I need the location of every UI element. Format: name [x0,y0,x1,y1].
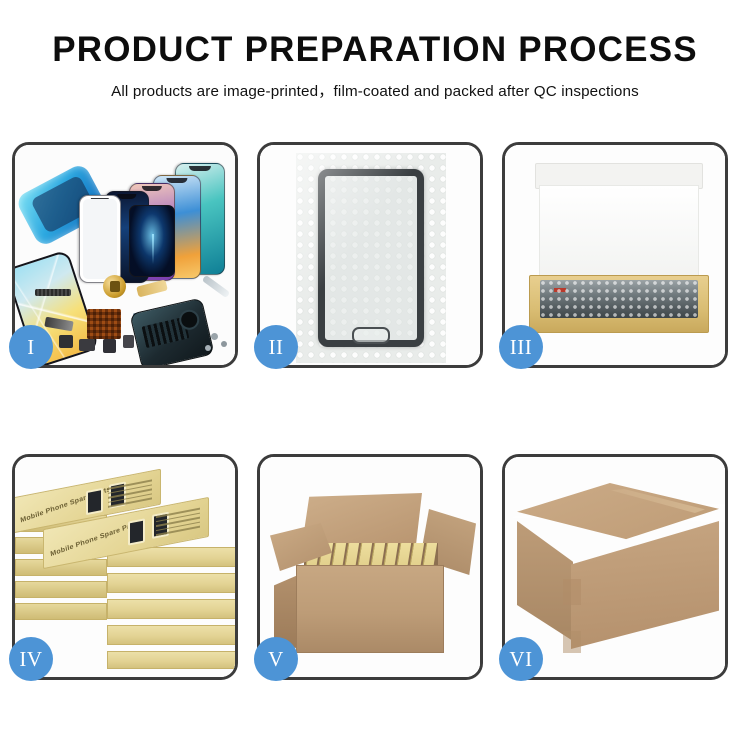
flex-cable-dark [44,317,73,332]
red-label-sticker [554,288,566,292]
carton-seam-1 [563,579,581,605]
process-step-panel-4[interactable]: Mobile Phone Spare Parts [12,454,238,680]
chip-part-4 [123,335,134,348]
box-stack-group: Mobile Phone Spare Parts [15,471,235,671]
carton-right-face [571,521,719,649]
step-badge-6: VI [499,637,543,681]
coil-part-icon [103,275,126,298]
screw-part-3 [205,345,211,351]
tweezers-icon [202,275,230,298]
process-step-panel-5[interactable]: V [257,454,483,680]
panel-photo-5 [260,457,480,677]
flex-cable-gold [136,280,168,298]
phone-white-front [79,195,121,283]
open-kraft-box [529,163,709,339]
process-step-panel-6[interactable]: VI [502,454,728,680]
sealed-carton-group [517,483,719,657]
box-side-4 [15,581,107,598]
step-badge-3: III [499,325,543,369]
notch-icon [117,194,136,199]
box-side-9 [107,625,235,645]
process-row-bottom: Mobile Phone Spare Parts [12,454,738,680]
panel-photo-2 [260,145,480,365]
panel-photo-1 [15,145,235,365]
box-screen-graphic-3 [128,518,145,545]
open-carton-photo [260,457,480,677]
chip-part-1 [59,335,73,348]
screw-part-1 [211,333,218,340]
process-row-top: I II [12,142,738,368]
step-badge-4: IV [9,637,53,681]
phone-jellyfish-wallpaper [129,205,175,277]
page-title: PRODUCT PREPARATION PROCESS [0,30,750,70]
panel-photo-6 [505,457,725,677]
step-badge-2: II [254,325,298,369]
phones-and-parts-photo [15,145,235,365]
phone-fan-group [71,161,235,281]
process-step-panel-3[interactable]: III [502,142,728,368]
process-step-panel-1[interactable]: I [12,142,238,368]
bubble-wrap-sheet [296,153,446,363]
box-tray [529,275,709,333]
step-badge-5: V [254,637,298,681]
page-subtitle: All products are image-printed，film-coat… [0,79,750,101]
step-badge-1: I [9,325,53,369]
process-step-grid: I II [12,142,738,680]
box-side-8 [107,599,235,619]
box-side-5 [15,603,107,620]
notch-icon [91,198,109,203]
screen-in-box-photo [505,145,725,365]
panel-photo-3 [505,145,725,365]
box-screen-graphic-1 [86,488,103,515]
sealed-carton-photo [505,457,725,677]
panel-photo-4: Mobile Phone Spare Parts [15,457,235,677]
open-carton-group [274,487,470,657]
screw-part-2 [221,341,227,347]
notch-icon [166,178,187,183]
connector-strip-part [35,289,71,296]
bubble-wrapped-screen-photo [260,145,480,365]
notch-icon [142,186,162,191]
box-side-7 [107,573,235,593]
carton-front [296,565,444,653]
phone-chassis-part [129,297,214,365]
stacked-boxes-photo: Mobile Phone Spare Parts [15,457,235,677]
chip-part-2 [79,339,95,351]
plastic-sheen-overlay [296,153,446,363]
foam-padding [539,185,699,281]
notch-icon [189,166,211,171]
process-step-panel-2[interactable]: II [257,142,483,368]
box-side-10 [107,651,235,669]
chip-part-3 [103,339,116,353]
page-header: PRODUCT PREPARATION PROCESS All products… [0,0,750,101]
carton-seam-2 [563,631,581,653]
wrapped-screen-in-tray [540,280,698,318]
copper-grid-part [87,309,121,339]
